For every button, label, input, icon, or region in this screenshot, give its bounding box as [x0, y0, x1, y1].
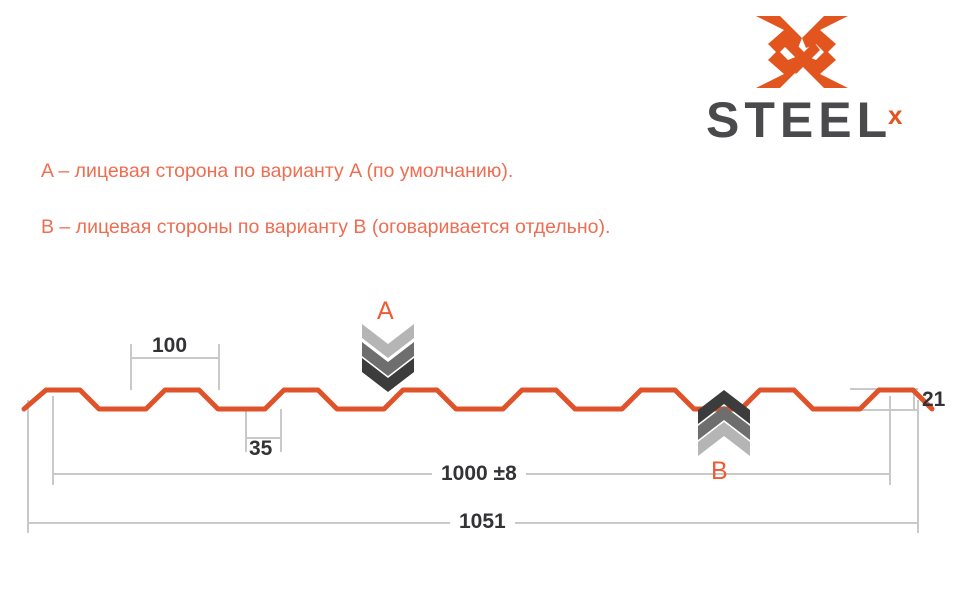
marker-label-b: B [711, 457, 728, 486]
marker-b-chevrons [698, 390, 750, 456]
dimension-label-valley-width: 35 [249, 437, 272, 461]
marker-label-a: A [377, 297, 394, 326]
dimension-label-overall-width: 1051 [450, 510, 515, 534]
dimension-label-pitch: 100 [152, 334, 187, 358]
marker-a-chevrons [362, 324, 414, 392]
dimension-label-working-width: 1000 ±8 [432, 462, 526, 486]
profile-drawing [0, 0, 970, 593]
drawing-sheet: STEEL x A – лицевая сторона по варианту … [0, 0, 970, 593]
dimension-label-height: 21 [922, 388, 945, 412]
profile-cross-section-line [24, 390, 932, 409]
